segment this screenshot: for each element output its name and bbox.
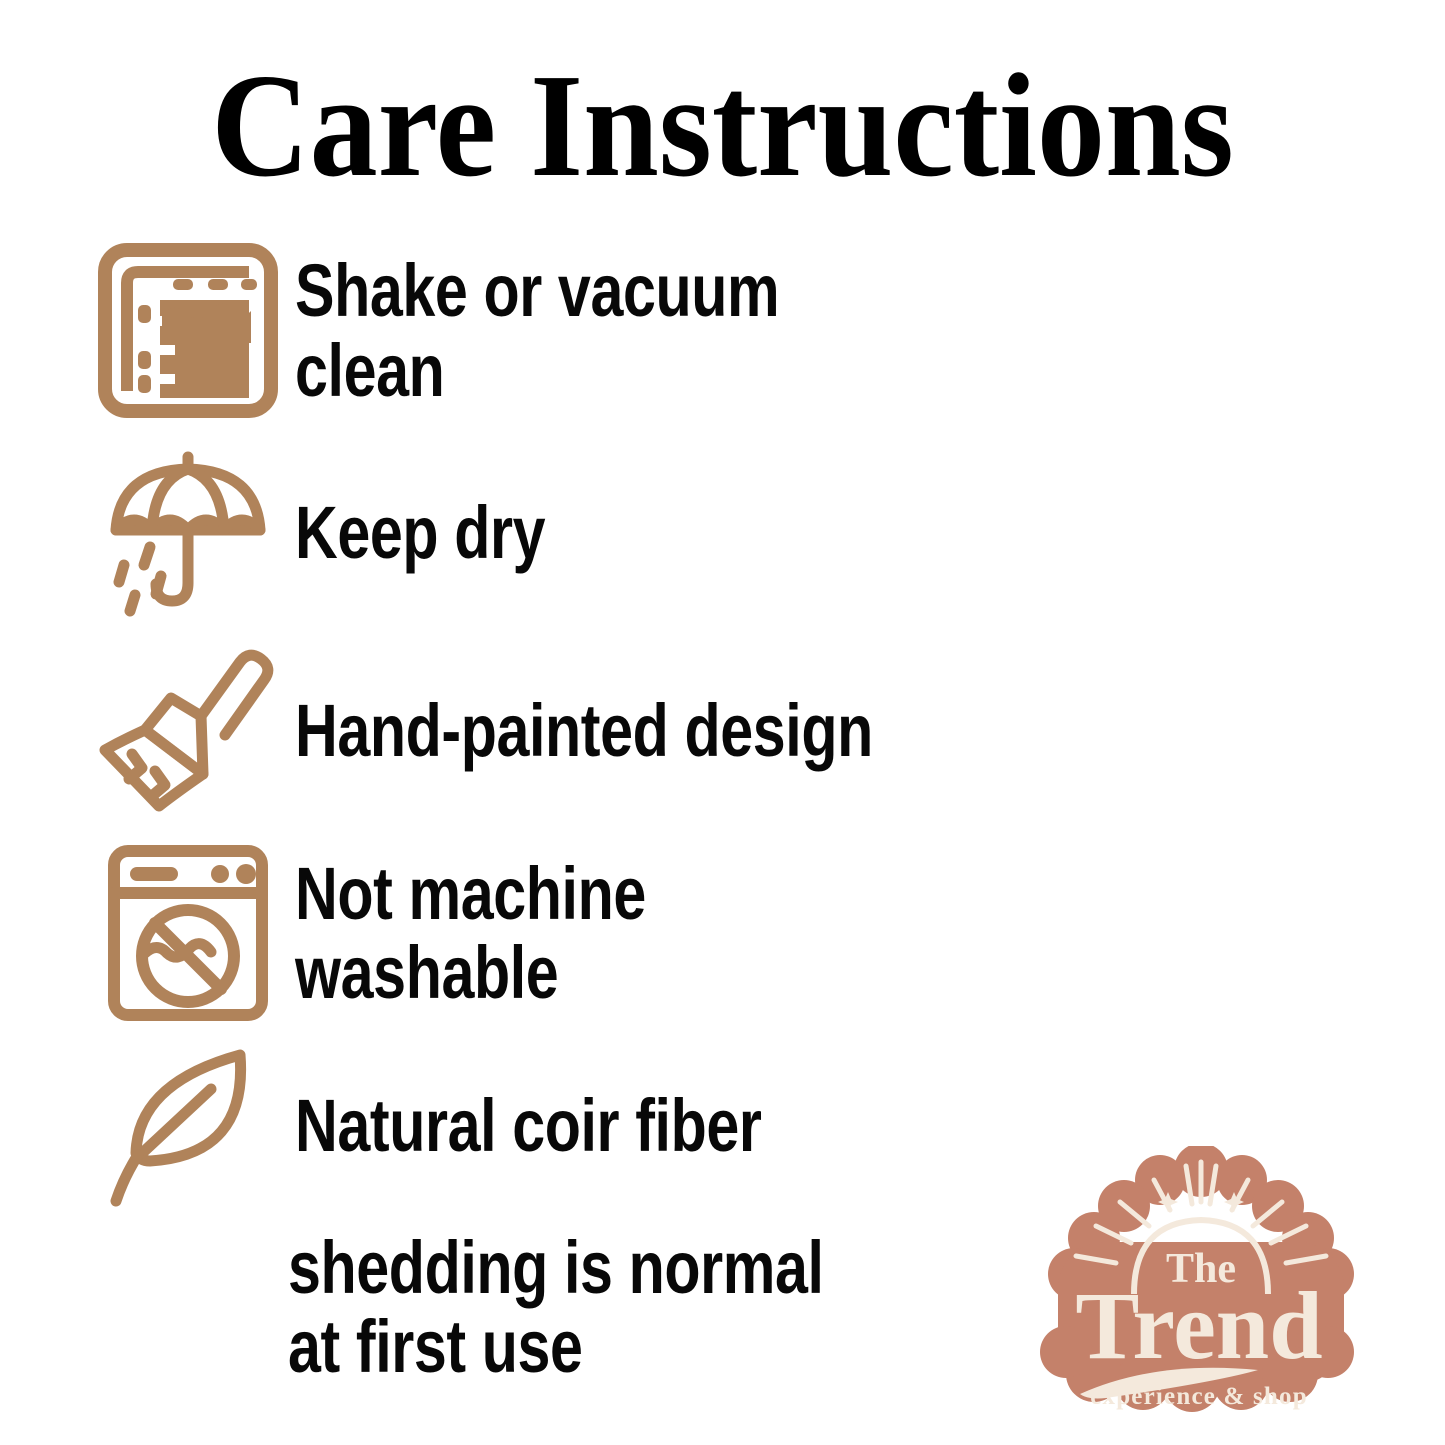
leaf-icon [80, 1043, 295, 1208]
page-title: Care Instructions [58, 52, 1387, 200]
logo-trend-text: Trend [1075, 1272, 1322, 1379]
list-item-label: Shake or vacuum clean [295, 251, 779, 409]
brand-logo: The Trend experience & shop [1036, 1146, 1366, 1442]
list-item: Shake or vacuum clean [80, 228, 1380, 433]
shedding-footnote: shedding is normal at first use [288, 1228, 824, 1386]
logo-tagline-text: experience & shop [1090, 1383, 1308, 1410]
list-item: Not machine washable [80, 828, 1380, 1038]
paint-brush-icon [80, 638, 295, 823]
care-instructions-card: Care Instructions [0, 0, 1445, 1445]
list-item: Keep dry [80, 433, 1380, 633]
umbrella-rain-icon [80, 443, 295, 623]
no-machine-wash-icon [80, 843, 295, 1023]
rug-icon [80, 243, 295, 418]
list-item-label: Hand-painted design [295, 691, 873, 770]
list-item-label: Natural coir fiber [295, 1086, 762, 1165]
instruction-list: Shake or vacuum clean [80, 228, 1380, 1213]
list-item-label: Keep dry [295, 493, 545, 572]
list-item-label: Not machine washable [295, 854, 646, 1012]
list-item: Hand-painted design [80, 633, 1380, 828]
